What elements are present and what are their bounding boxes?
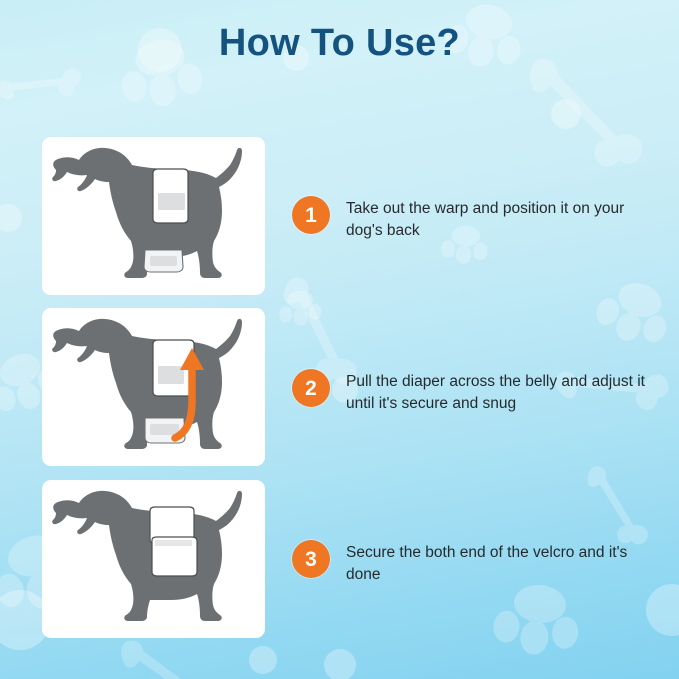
infographic-root: How To Use? — [0, 0, 679, 679]
step-text-2: Pull the diaper across the belly and adj… — [346, 371, 662, 415]
diaper-belly-flap-icon — [144, 250, 183, 272]
illustration-card-step-1 — [42, 137, 265, 295]
illustration-card-step-3 — [42, 480, 265, 638]
dog-silhouette-icon — [52, 491, 242, 621]
step-item-2: 2 Pull the diaper across the belly and a… — [292, 369, 662, 415]
step-item-1: 1 Take out the warp and position it on y… — [292, 196, 662, 242]
step-text-3: Secure the both end of the velcro and it… — [346, 542, 662, 586]
dog-illustration-step-2 — [42, 308, 265, 466]
step-text-1: Take out the warp and position it on you… — [346, 198, 662, 242]
illustration-card-step-2 — [42, 308, 265, 466]
dog-illustration-step-1 — [42, 137, 265, 295]
page-title: How To Use? — [0, 22, 679, 65]
secured-diaper-wrap-icon — [150, 507, 197, 576]
step-number-badge-3: 3 — [292, 540, 330, 578]
diaper-wrap-panel-icon — [153, 169, 188, 223]
step-number-badge-1: 1 — [292, 196, 330, 234]
dog-illustration-step-3 — [42, 480, 265, 638]
step-item-3: 3 Secure the both end of the velcro and … — [292, 540, 662, 586]
step-number-badge-2: 2 — [292, 369, 330, 407]
